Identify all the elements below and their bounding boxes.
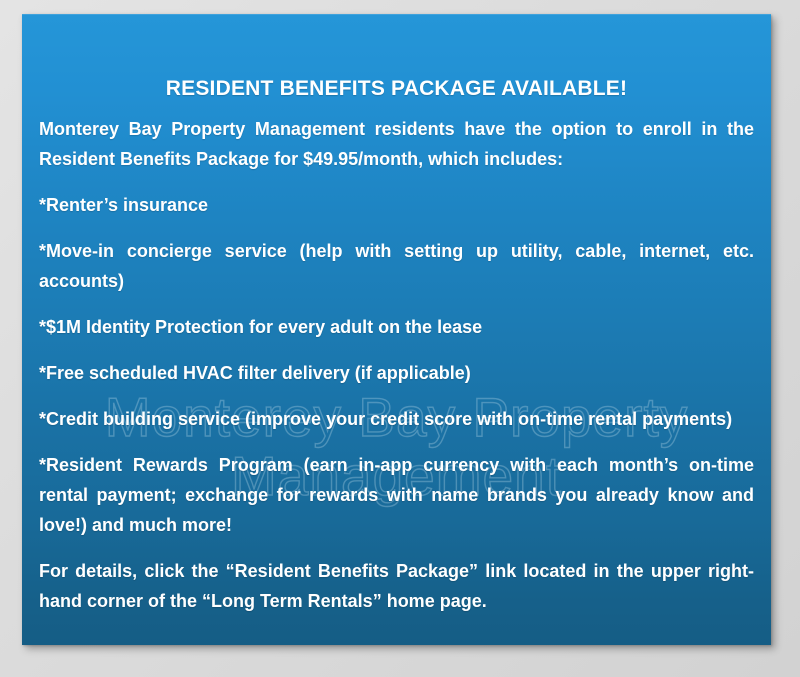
benefit-item-5: *Credit building service (improve your c… — [39, 404, 754, 434]
benefit-item-2: *Move-in concierge service (help with se… — [39, 236, 754, 296]
footer-paragraph: For details, click the “Resident Benefit… — [39, 556, 754, 616]
benefit-item-1: *Renter’s insurance — [39, 190, 754, 220]
promo-panel: Monterey Bay Property Management RESIDEN… — [22, 14, 771, 645]
benefit-item-4: *Free scheduled HVAC filter delivery (if… — [39, 358, 754, 388]
benefit-item-6: *Resident Rewards Program (earn in-app c… — [39, 450, 754, 540]
benefit-item-3: *$1M Identity Protection for every adult… — [39, 312, 754, 342]
outer-frame: Monterey Bay Property Management RESIDEN… — [0, 0, 800, 677]
body-block: Monterey Bay Property Management residen… — [39, 114, 754, 616]
page-title: RESIDENT BENEFITS PACKAGE AVAILABLE! — [22, 77, 771, 101]
intro-paragraph: Monterey Bay Property Management residen… — [39, 114, 754, 174]
panel-content: RESIDENT BENEFITS PACKAGE AVAILABLE! Mon… — [22, 14, 771, 645]
